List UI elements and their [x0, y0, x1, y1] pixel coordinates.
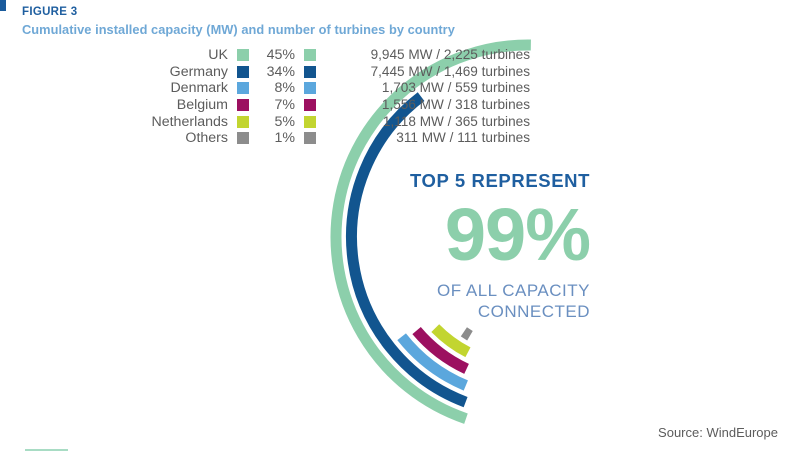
legend-color-swatch-secondary	[304, 82, 316, 94]
arc-segment	[417, 331, 467, 369]
legend-country-name: Belgium	[120, 97, 228, 113]
legend-country-name: Germany	[120, 64, 228, 80]
legend-color-swatch	[237, 49, 249, 61]
legend-row: Netherlands 5% 1,118 MW / 365 turbines	[120, 113, 540, 130]
callout-headline: TOP 5 REPRESENT	[340, 170, 590, 192]
legend-color-swatch	[237, 66, 249, 78]
legend-color-swatch	[237, 82, 249, 94]
callout-percent: 99%	[340, 196, 590, 274]
legend-color-swatch	[237, 116, 249, 128]
legend-country-name: Others	[120, 130, 228, 146]
legend-table: UK 45% 9,945 MW / 2,225 turbines Germany…	[120, 47, 540, 147]
legend-capacity-turbines: 1,703 MW / 559 turbines	[330, 80, 530, 96]
top-left-accent-mark	[0, 0, 6, 11]
legend-percent: 34%	[249, 64, 295, 80]
legend-capacity-turbines: 7,445 MW / 1,469 turbines	[330, 64, 530, 80]
legend-country-name: Denmark	[120, 80, 228, 96]
legend-country-name: Netherlands	[120, 114, 228, 130]
callout-caption-line-2: CONNECTED	[340, 301, 590, 322]
arc-segment	[435, 328, 468, 352]
bottom-rule	[25, 449, 68, 451]
legend-percent: 5%	[249, 114, 295, 130]
legend-row: Belgium 7% 1,556 MW / 318 turbines	[120, 97, 540, 114]
callout-block: TOP 5 REPRESENT 99% OF ALL CAPACITY CONN…	[340, 170, 590, 322]
legend-color-swatch	[237, 132, 249, 144]
source-note: Source: WindEurope	[658, 425, 778, 440]
legend-percent: 8%	[249, 80, 295, 96]
legend-percent: 45%	[249, 47, 295, 63]
arc-segment	[464, 332, 470, 336]
arc-segment	[402, 337, 466, 386]
legend-row: Denmark 8% 1,703 MW / 559 turbines	[120, 80, 540, 97]
callout-caption-line-1: OF ALL CAPACITY	[340, 280, 590, 301]
legend-color-swatch-secondary	[304, 132, 316, 144]
legend-country-name: UK	[120, 47, 228, 63]
figure-label: FIGURE 3	[22, 5, 455, 19]
legend-color-swatch-secondary	[304, 99, 316, 111]
legend-color-swatch-secondary	[304, 66, 316, 78]
title-block: FIGURE 3 Cumulative installed capacity (…	[22, 5, 455, 39]
legend-color-swatch-secondary	[304, 116, 316, 128]
legend-row: UK 45% 9,945 MW / 2,225 turbines	[120, 47, 540, 64]
legend-row: Germany 34% 7,445 MW / 1,469 turbines	[120, 64, 540, 81]
figure-subtitle: Cumulative installed capacity (MW) and n…	[22, 21, 455, 39]
legend-percent: 1%	[249, 130, 295, 146]
legend-row: Others 1% 311 MW / 111 turbines	[120, 130, 540, 147]
legend-capacity-turbines: 9,945 MW / 2,225 turbines	[330, 47, 530, 63]
legend-capacity-turbines: 1,118 MW / 365 turbines	[330, 114, 530, 130]
legend-capacity-turbines: 311 MW / 111 turbines	[330, 130, 530, 146]
legend-color-swatch-secondary	[304, 49, 316, 61]
legend-capacity-turbines: 1,556 MW / 318 turbines	[330, 97, 530, 113]
legend-percent: 7%	[249, 97, 295, 113]
legend-color-swatch	[237, 99, 249, 111]
